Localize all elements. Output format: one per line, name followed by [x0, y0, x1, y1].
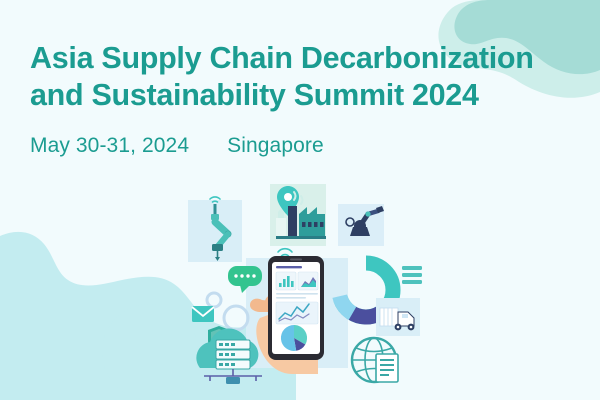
event-details-row: May 30-31, 2024 Singapore	[30, 134, 590, 158]
event-location: Singapore	[227, 134, 324, 158]
text-block: Asia Supply Chain Decarbonization and Su…	[30, 40, 590, 158]
smartphone-icon	[268, 256, 324, 360]
pie-chart-icon	[281, 325, 307, 351]
globe-document-icon	[352, 338, 398, 382]
event-banner: Asia Supply Chain Decarbonization and Su…	[0, 0, 600, 400]
list-lines-icon	[402, 266, 422, 284]
delivery-truck-icon	[376, 298, 420, 336]
event-title-line2: and Sustainability Summit 2024	[30, 77, 590, 114]
event-dates: May 30-31, 2024	[30, 134, 189, 158]
event-title-line1: Asia Supply Chain Decarbonization	[30, 40, 590, 77]
envelope-icon	[192, 306, 214, 322]
server-rack-icon	[216, 340, 250, 369]
supply-chain-illustration	[170, 178, 430, 390]
